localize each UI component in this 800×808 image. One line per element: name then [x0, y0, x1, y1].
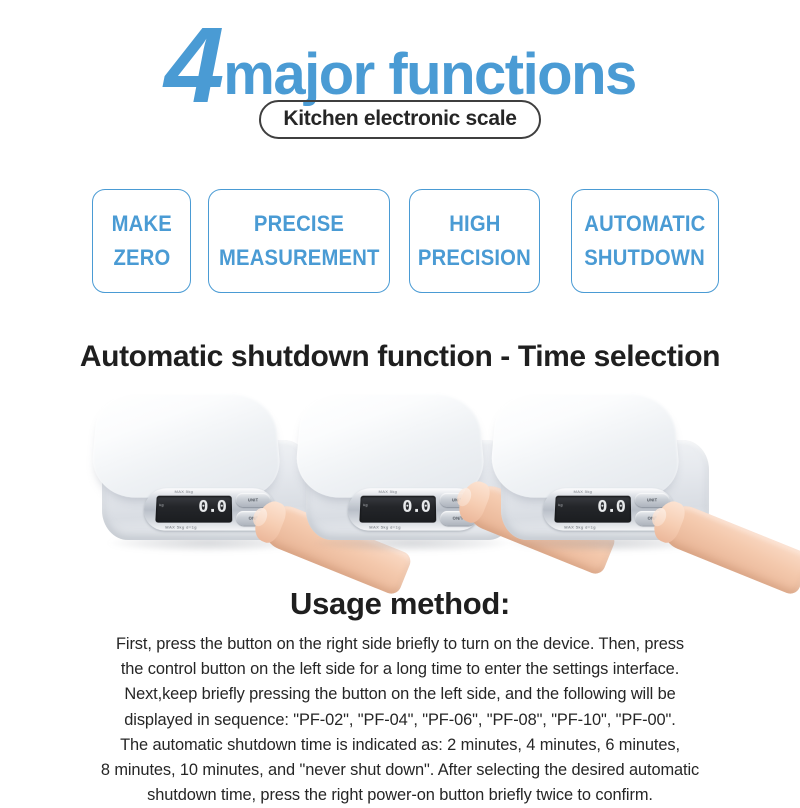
power-tare-button[interactable]: ON/T [440, 511, 476, 526]
feature-card-line-2: ZERO [113, 241, 170, 275]
unit-button-label: UNIT [248, 498, 259, 502]
panel-top-label: MAX 5kg [379, 489, 398, 494]
power-tare-button-label: ON/T [248, 516, 259, 521]
usage-line: displayed in sequence: "PF-02", "PF-04",… [0, 708, 800, 733]
section-heading: Automatic shutdown function - Time selec… [0, 340, 800, 374]
panel-top-label: MAX 5kg [574, 489, 593, 494]
lcd-value: 0.0 [198, 499, 226, 515]
usage-line: The automatic shutdown time is indicated… [0, 733, 800, 758]
usage-heading: Usage method: [0, 586, 800, 622]
usage-line: Next,keep briefly pressing the button on… [0, 682, 800, 707]
scale-platform [89, 393, 283, 498]
hero-big-number: 4 [164, 21, 221, 110]
lcd-unit-tag: kg [159, 502, 164, 507]
scale-right: MAX 5kg kg 0.0 UNIT ON/T MAX 5kg d=1g [487, 382, 737, 572]
feature-card-make-zero[interactable]: MAKE ZERO [92, 189, 191, 293]
lcd-value: 0.0 [402, 499, 430, 515]
power-tare-button-label: ON/T [452, 516, 463, 521]
panel-bottom-label: MAX 5kg d=1g [564, 525, 596, 530]
power-tare-button[interactable]: ON/T [635, 511, 671, 526]
feature-card-automatic-shutdown[interactable]: AUTOMATIC SHUTDOWN [571, 189, 719, 293]
lcd-display: kg 0.0 [155, 496, 232, 523]
lcd-value: 0.0 [597, 499, 625, 515]
usage-line: 8 minutes, 10 minutes, and "never shut d… [0, 758, 800, 783]
unit-button-label: UNIT [452, 498, 463, 502]
hero-title: major functions [223, 47, 636, 103]
feature-card-line-1: PRECISE [254, 207, 344, 241]
usage-line: shutdown time, press the right power-on … [0, 783, 800, 808]
unit-button[interactable]: UNIT [635, 493, 670, 507]
scale-platform [488, 393, 682, 498]
power-tare-button-label: ON/T [647, 516, 658, 521]
unit-button[interactable]: UNIT [440, 493, 475, 507]
feature-card-precise-measurement[interactable]: PRECISE MEASUREMENT [208, 189, 390, 293]
product-type-badge: Kitchen electronic scale [259, 100, 540, 139]
scale-platform [293, 393, 487, 498]
hero-title-row: 4 major functions [0, 14, 800, 106]
lcd-display: kg 0.0 [554, 496, 631, 523]
unit-button[interactable]: UNIT [236, 493, 271, 507]
feature-card-high-precision[interactable]: HIGH PRECISION [409, 189, 540, 293]
power-tare-button[interactable]: ON/T [236, 511, 272, 526]
feature-card-line-2: MEASUREMENT [219, 241, 380, 275]
feature-card-line-1: HIGH [449, 207, 500, 241]
scale-control-panel: MAX 5kg kg 0.0 UNIT ON/T MAX 5kg d=1g [542, 488, 677, 530]
feature-card-line-1: AUTOMATIC [584, 207, 705, 241]
hero-header: 4 major functions Kitchen electronic sca… [0, 0, 800, 150]
unit-button-label: UNIT [647, 498, 658, 502]
feature-card-line-2: PRECISION [418, 241, 531, 275]
panel-bottom-label: MAX 5kg d=1g [369, 525, 401, 530]
feature-card-line-2: SHUTDOWN [585, 241, 706, 275]
product-image-row: MAX 5kg kg 0.0 UNIT ON/T MAX 5kg d=1g [0, 382, 800, 572]
feature-cards: MAKE ZERO PRECISE MEASUREMENT HIGH PRECI… [0, 189, 800, 297]
scale-control-panel: MAX 5kg kg 0.0 UNIT ON/T MAX 5kg d=1g [143, 488, 278, 530]
panel-top-label: MAX 5kg [175, 489, 194, 494]
panel-bottom-label: MAX 5kg d=1g [165, 525, 197, 530]
scale-control-panel: MAX 5kg kg 0.0 UNIT ON/T MAX 5kg d=1g [347, 488, 482, 530]
feature-card-line-1: MAKE [111, 207, 171, 241]
usage-line: First, press the button on the right sid… [0, 632, 800, 657]
hero-badge-row: Kitchen electronic scale [0, 100, 800, 139]
lcd-unit-tag: kg [363, 502, 368, 507]
lcd-unit-tag: kg [558, 502, 563, 507]
usage-body: First, press the button on the right sid… [0, 632, 800, 808]
usage-line: the control button on the left side for … [0, 657, 800, 682]
lcd-display: kg 0.0 [359, 496, 436, 523]
